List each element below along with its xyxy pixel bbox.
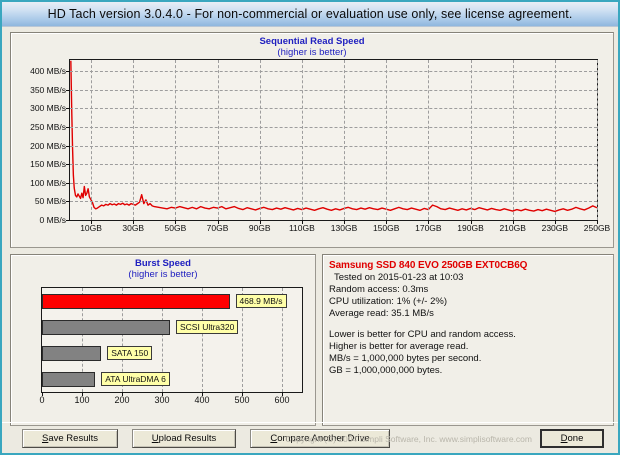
burst-bar xyxy=(42,294,230,309)
burst-x-axis-tick xyxy=(42,392,43,396)
x-axis-tick xyxy=(218,220,219,224)
y-axis-tick xyxy=(66,220,70,221)
x-axis-tick xyxy=(471,220,472,224)
x-axis-tick-label: 250GB xyxy=(584,223,610,233)
burst-x-axis-tick xyxy=(82,392,83,396)
window-titlebar: HD Tach version 3.0.4.0 - For non-commer… xyxy=(2,2,618,27)
x-axis-tick xyxy=(260,220,261,224)
drive-model-label: Samsung SSD 840 EVO 250GB EXT0CB6Q xyxy=(329,259,607,272)
note-mbs-definition: MB/s = 1,000,000 bytes per second. xyxy=(329,353,607,365)
burst-bar xyxy=(42,320,170,335)
gridline-horizontal xyxy=(70,201,597,202)
x-axis-tick-label: 170GB xyxy=(415,223,441,233)
burst-plot-area: 0100200300400500600468.9 MB/sSCSI Ultra3… xyxy=(41,287,303,393)
x-axis-tick xyxy=(513,220,514,224)
burst-x-axis-tick-label: 100 xyxy=(74,395,89,405)
x-axis-tick-label: 70GB xyxy=(207,223,229,233)
y-axis-tick xyxy=(66,90,70,91)
y-axis-tick-label: 100 MB/s xyxy=(30,178,66,188)
y-axis-tick-label: 150 MB/s xyxy=(30,159,66,169)
burst-speed-panel: Burst Speed (higher is better) 010020030… xyxy=(10,254,316,426)
y-axis-tick xyxy=(66,127,70,128)
burst-x-axis-tick xyxy=(242,392,243,396)
gridline-vertical xyxy=(555,60,556,220)
window-title: HD Tach version 3.0.4.0 - For non-commer… xyxy=(48,7,573,21)
sequential-title-text: Sequential Read Speed xyxy=(259,36,364,47)
x-axis-tick-label: 130GB xyxy=(331,223,357,233)
burst-subtitle-text: (higher is better) xyxy=(128,269,197,280)
burst-title-text: Burst Speed xyxy=(135,258,191,269)
random-access-label: Random access: 0.3ms xyxy=(329,284,607,296)
sequential-read-line xyxy=(70,60,597,220)
burst-x-axis-tick xyxy=(282,392,283,396)
hdtach-window: HD Tach version 3.0.4.0 - For non-commer… xyxy=(0,0,620,455)
x-axis-tick xyxy=(555,220,556,224)
gridline-vertical xyxy=(513,60,514,220)
x-axis-tick-label: 50GB xyxy=(165,223,187,233)
upload-results-button[interactable]: Upload Results xyxy=(132,429,236,448)
note-higher-better: Higher is better for average read. xyxy=(329,341,607,353)
gridline-vertical xyxy=(91,60,92,220)
gridline-horizontal xyxy=(70,183,597,184)
gridline-vertical xyxy=(260,60,261,220)
cpu-utilization-label: CPU utilization: 1% (+/- 2%) xyxy=(329,296,607,308)
x-axis-tick-label: 30GB xyxy=(122,223,144,233)
y-axis-tick xyxy=(66,108,70,109)
sequential-plot-area: 0 MB/s50 MB/s100 MB/s150 MB/s200 MB/s250… xyxy=(69,59,598,221)
burst-x-axis-tick-label: 500 xyxy=(234,395,249,405)
burst-bar-label: 468.9 MB/s xyxy=(236,294,287,308)
y-axis-tick-label: 250 MB/s xyxy=(30,122,66,132)
x-axis-tick-label: 90GB xyxy=(249,223,271,233)
x-axis-tick xyxy=(344,220,345,224)
burst-bar-label: ATA UltraDMA 6 xyxy=(101,372,170,386)
gridline-horizontal xyxy=(70,146,597,147)
info-spacer xyxy=(329,320,607,329)
done-button[interactable]: Done xyxy=(540,429,604,448)
x-axis-tick xyxy=(91,220,92,224)
note-gb-definition: GB = 1,000,000,000 bytes. xyxy=(329,365,607,377)
save-results-button[interactable]: Save Results xyxy=(22,429,118,448)
burst-x-axis-tick xyxy=(162,392,163,396)
gridline-horizontal xyxy=(70,90,597,91)
y-axis-tick-label: 200 MB/s xyxy=(30,141,66,151)
y-axis-tick-label: 300 MB/s xyxy=(30,103,66,113)
drive-info-panel: Samsung SSD 840 EVO 250GB EXT0CB6Q Teste… xyxy=(322,254,614,426)
burst-x-axis-tick-label: 300 xyxy=(154,395,169,405)
gridline-vertical xyxy=(386,60,387,220)
burst-x-axis-tick xyxy=(202,392,203,396)
gridline-vertical xyxy=(133,60,134,220)
burst-chart-title: Burst Speed (higher is better) xyxy=(11,258,315,280)
burst-x-axis-tick-label: 600 xyxy=(274,395,289,405)
copyright-label: Copyright (C) 2004 Simpli Software, Inc.… xyxy=(285,434,532,444)
burst-x-axis-tick xyxy=(122,392,123,396)
gridline-horizontal xyxy=(70,127,597,128)
bottom-button-bar: Save Results Upload Results Compare Anot… xyxy=(2,422,618,453)
sequential-subtitle-text: (higher is better) xyxy=(277,47,346,58)
x-axis-tick-label: 230GB xyxy=(542,223,568,233)
y-axis-tick xyxy=(66,201,70,202)
burst-x-axis-tick-label: 400 xyxy=(194,395,209,405)
x-axis-tick-label: 10GB xyxy=(80,223,102,233)
gridline-vertical xyxy=(471,60,472,220)
y-axis-tick-label: 0 MB/s xyxy=(40,215,66,225)
burst-bar xyxy=(42,372,95,387)
x-axis-tick-label: 150GB xyxy=(373,223,399,233)
average-read-label: Average read: 35.1 MB/s xyxy=(329,308,607,320)
y-axis-tick-label: 50 MB/s xyxy=(35,196,66,206)
x-axis-tick xyxy=(597,220,598,224)
y-axis-tick xyxy=(66,164,70,165)
gridline-horizontal xyxy=(70,71,597,72)
gridline-horizontal xyxy=(70,108,597,109)
y-axis-tick-label: 400 MB/s xyxy=(30,66,66,76)
note-lower-better: Lower is better for CPU and random acces… xyxy=(329,329,607,341)
gridline-horizontal xyxy=(70,164,597,165)
x-axis-tick xyxy=(175,220,176,224)
tested-on-label: Tested on 2015-01-23 at 10:03 xyxy=(329,272,607,284)
y-axis-tick xyxy=(66,71,70,72)
x-axis-tick-label: 110GB xyxy=(289,223,315,233)
x-axis-tick xyxy=(133,220,134,224)
x-axis-tick-label: 210GB xyxy=(499,223,525,233)
gridline-vertical xyxy=(302,60,303,220)
sequential-chart-title: Sequential Read Speed (higher is better) xyxy=(11,36,613,58)
gridline-vertical xyxy=(218,60,219,220)
x-axis-tick xyxy=(302,220,303,224)
y-axis-tick xyxy=(66,146,70,147)
burst-bar-label: SATA 150 xyxy=(107,346,152,360)
burst-x-axis-tick-label: 0 xyxy=(39,395,44,405)
gridline-vertical xyxy=(428,60,429,220)
gridline-vertical xyxy=(175,60,176,220)
gridline-vertical xyxy=(344,60,345,220)
x-axis-tick xyxy=(386,220,387,224)
y-axis-tick-label: 350 MB/s xyxy=(30,85,66,95)
x-axis-tick-label: 190GB xyxy=(457,223,483,233)
x-axis-tick xyxy=(428,220,429,224)
burst-x-axis-tick-label: 200 xyxy=(114,395,129,405)
burst-bar-label: SCSI Ultra320 xyxy=(176,320,238,334)
y-axis-tick xyxy=(66,183,70,184)
gridline-vertical xyxy=(597,60,598,220)
sequential-read-panel: Sequential Read Speed (higher is better)… xyxy=(10,32,614,248)
burst-bar xyxy=(42,346,101,361)
